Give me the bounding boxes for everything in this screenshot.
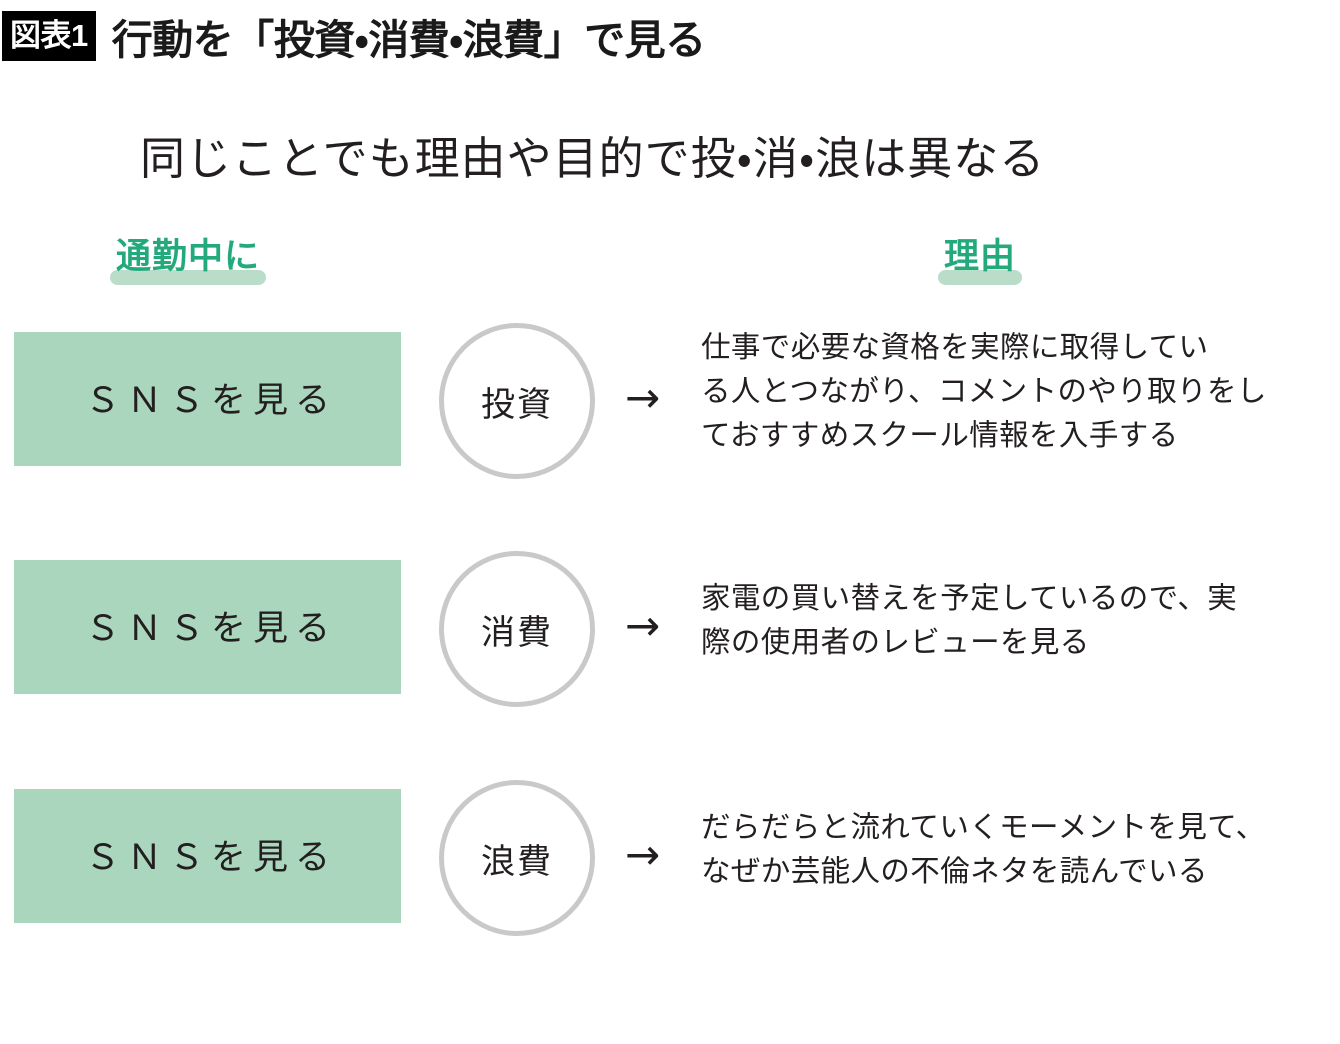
category-circle-investment: 投資	[439, 323, 595, 479]
highlight-wrapper: 理由	[938, 228, 1022, 279]
arrow-right-icon: →	[625, 605, 660, 647]
table-row: ＳＮＳを見る 浪費 → だらだらと流れていくモーメントを見て、 なぜか芸能人の不…	[0, 789, 1340, 925]
action-label: ＳＮＳを見る	[78, 372, 337, 423]
title-row: 図表1 行動を「投資・消費・浪費」で見る	[0, 8, 706, 64]
arrow-right-icon: →	[625, 377, 660, 419]
action-label: ＳＮＳを見る	[78, 829, 337, 880]
reason-line: 際の使用者のレビューを見る	[701, 621, 1301, 665]
category-label: 投資	[481, 377, 553, 426]
table-row: ＳＮＳを見る 投資 → 仕事で必要な資格を実際に取得してい る人とつながり、コメ…	[0, 332, 1340, 468]
column-header-reason-label: 理由	[944, 237, 1016, 276]
category-circle-waste: 浪費	[439, 780, 595, 936]
action-box: ＳＮＳを見る	[14, 560, 401, 694]
action-box: ＳＮＳを見る	[14, 332, 401, 466]
table-row: ＳＮＳを見る 消費 → 家電の買い替えを予定しているので、実 際の使用者のレビュ…	[0, 560, 1340, 696]
category-label: 浪費	[481, 834, 553, 883]
reason-text: 仕事で必要な資格を実際に取得してい る人とつながり、コメントのやり取りをし てお…	[701, 326, 1301, 458]
figure-number-badge: 図表1	[2, 11, 96, 61]
reason-line: だらだらと流れていくモーメントを見て、	[701, 806, 1301, 850]
column-header-action: 通勤中に	[110, 228, 266, 279]
column-header-reason: 理由	[938, 228, 1022, 279]
reason-text: だらだらと流れていくモーメントを見て、 なぜか芸能人の不倫ネタを読んでいる	[701, 806, 1301, 894]
reason-line: る人とつながり、コメントのやり取りをし	[701, 370, 1301, 414]
highlight-wrapper: 通勤中に	[110, 228, 266, 279]
action-box: ＳＮＳを見る	[14, 789, 401, 923]
arrow-right-icon: →	[625, 834, 660, 876]
page-title: 行動を「投資・消費・浪費」で見る	[112, 6, 706, 66]
reason-line: なぜか芸能人の不倫ネタを読んでいる	[701, 850, 1301, 894]
reason-text: 家電の買い替えを予定しているので、実 際の使用者のレビューを見る	[701, 577, 1301, 665]
reason-line: ておすすめスクール情報を入手する	[701, 414, 1301, 458]
reason-line: 仕事で必要な資格を実際に取得してい	[701, 326, 1301, 370]
action-label: ＳＮＳを見る	[78, 600, 337, 651]
reason-line: 家電の買い替えを予定しているので、実	[701, 577, 1301, 621]
column-header-action-label: 通勤中に	[116, 237, 260, 276]
page-subtitle: 同じことでも理由や目的で投・消・浪は異なる	[140, 122, 1045, 187]
category-circle-consumption: 消費	[439, 551, 595, 707]
category-label: 消費	[481, 605, 553, 654]
